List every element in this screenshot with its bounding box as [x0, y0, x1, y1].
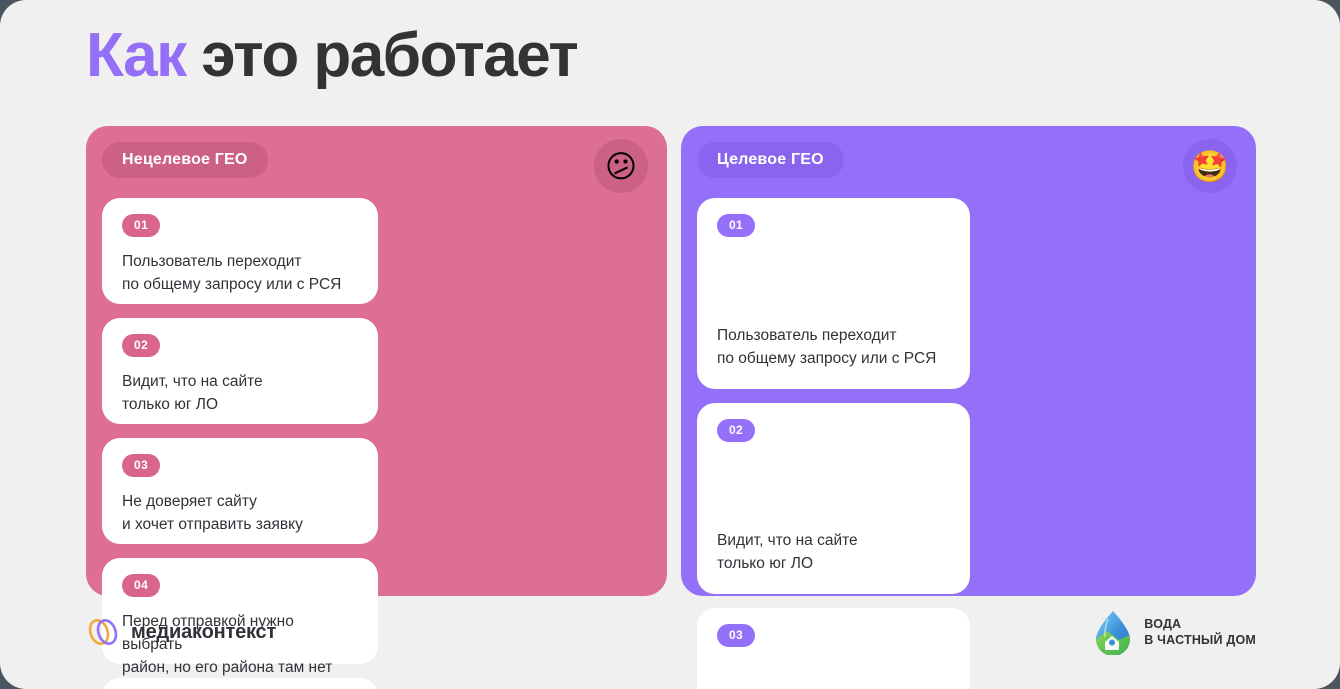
- voda-line-2: В ЧАСТНЫЙ ДОМ: [1144, 633, 1256, 647]
- water-drop-house-icon: [1092, 609, 1134, 655]
- footer: медиаконтекст: [86, 608, 1256, 656]
- page-title-rest: это работает: [186, 21, 578, 90]
- step-card: 01 Пользователь переходит по общему запр…: [697, 198, 970, 389]
- page-title: Как это работает: [86, 20, 577, 91]
- step-card-text: Видит, что на сайте только юг ЛО: [717, 530, 950, 576]
- step-card-text: Не доверяет сайту и хочет отправить заяв…: [122, 491, 358, 537]
- two-rings-icon: [86, 617, 120, 647]
- voda-wordmark: ВОДА В ЧАСТНЫЙ ДОМ: [1144, 617, 1256, 648]
- step-card-text: Видит, что на сайте только юг ЛО: [122, 371, 358, 417]
- step-card: 05 Расстраивается, но не сдается: [102, 678, 378, 689]
- step-number-badge: 04: [122, 574, 160, 597]
- slide-root: Как это работает Нецелевое ГЕО 😕 01 Поль…: [0, 0, 1340, 689]
- step-card-text: Пользователь переходит по общему запросу…: [717, 325, 950, 371]
- voda-v-chastny-dom-logo: ВОДА В ЧАСТНЫЙ ДОМ: [1092, 609, 1256, 655]
- panel-positive: Целевое ГЕО 🤩 01 Пользователь переходит …: [681, 126, 1256, 596]
- panel-negative-header: Нецелевое ГЕО 😕: [102, 142, 651, 198]
- step-number-badge: 01: [122, 214, 160, 237]
- step-card: 01 Пользователь переходит по общему запр…: [102, 198, 378, 304]
- step-number-badge: 01: [717, 214, 755, 237]
- step-card: 02 Видит, что на сайте только юг ЛО: [102, 318, 378, 424]
- panel-positive-header: Целевое ГЕО 🤩: [697, 142, 1240, 198]
- panel-positive-tag: Целевое ГЕО: [697, 142, 844, 178]
- voda-line-1: ВОДА: [1144, 617, 1256, 631]
- step-number-badge: 03: [122, 454, 160, 477]
- step-card-text: Пользователь переходит по общему запросу…: [122, 251, 358, 297]
- confused-face-emoji: 😕: [594, 139, 648, 193]
- panel-negative-tag: Нецелевое ГЕО: [102, 142, 268, 178]
- panels-container: Нецелевое ГЕО 😕 01 Пользователь переходи…: [86, 126, 1256, 596]
- mediakontekst-logo: медиаконтекст: [86, 617, 276, 647]
- step-number-badge: 02: [122, 334, 160, 357]
- mediakontekst-wordmark: медиаконтекст: [131, 621, 276, 644]
- page-title-accent: Как: [86, 21, 186, 90]
- panel-negative: Нецелевое ГЕО 😕 01 Пользователь переходи…: [86, 126, 667, 596]
- star-struck-emoji: 🤩: [1183, 139, 1237, 193]
- step-card: 02 Видит, что на сайте только юг ЛО: [697, 403, 970, 594]
- step-card: 03 Не доверяет сайту и хочет отправить з…: [102, 438, 378, 544]
- step-number-badge: 02: [717, 419, 755, 442]
